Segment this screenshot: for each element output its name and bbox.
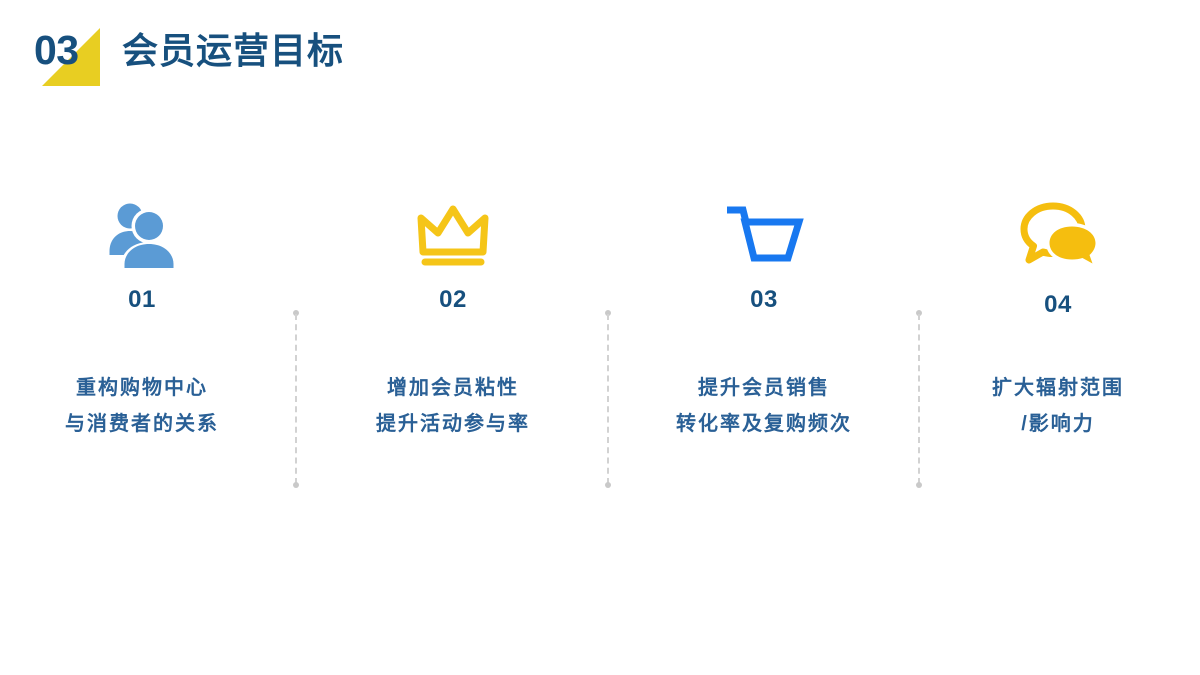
column-number: 04	[928, 291, 1188, 319]
goal-column-3: 03 提升会员销售 转化率及复购频次	[634, 190, 894, 442]
caption-line-1: 重构购物中心	[12, 370, 272, 406]
crown-icon	[323, 190, 583, 276]
people-icon	[12, 190, 272, 276]
column-caption: 提升会员销售 转化率及复购频次	[634, 370, 894, 442]
chat-bubbles-icon	[928, 190, 1188, 276]
column-caption: 扩大辐射范围 /影响力	[928, 370, 1188, 442]
caption-line-2: 转化率及复购频次	[634, 406, 894, 442]
caption-line-1: 提升会员销售	[634, 370, 894, 406]
caption-line-1: 增加会员粘性	[323, 370, 583, 406]
caption-line-2: 提升活动参与率	[323, 406, 583, 442]
goal-columns: 01 重构购物中心 与消费者的关系 02 增加会员粘性 提升活动参与率	[0, 0, 1200, 675]
column-number: 03	[634, 286, 894, 314]
caption-line-1: 扩大辐射范围	[928, 370, 1188, 406]
column-number: 02	[323, 286, 583, 314]
goal-column-2: 02 增加会员粘性 提升活动参与率	[323, 190, 583, 442]
slide-canvas: 03 会员运营目标	[0, 0, 1200, 675]
caption-line-2: /影响力	[928, 406, 1188, 442]
shopping-cart-icon	[634, 190, 894, 276]
goal-column-4: 04 扩大辐射范围 /影响力	[928, 190, 1188, 442]
goal-column-1: 01 重构购物中心 与消费者的关系	[12, 190, 272, 442]
column-caption: 重构购物中心 与消费者的关系	[12, 370, 272, 442]
column-caption: 增加会员粘性 提升活动参与率	[323, 370, 583, 442]
column-number: 01	[12, 286, 272, 314]
caption-line-2: 与消费者的关系	[12, 406, 272, 442]
